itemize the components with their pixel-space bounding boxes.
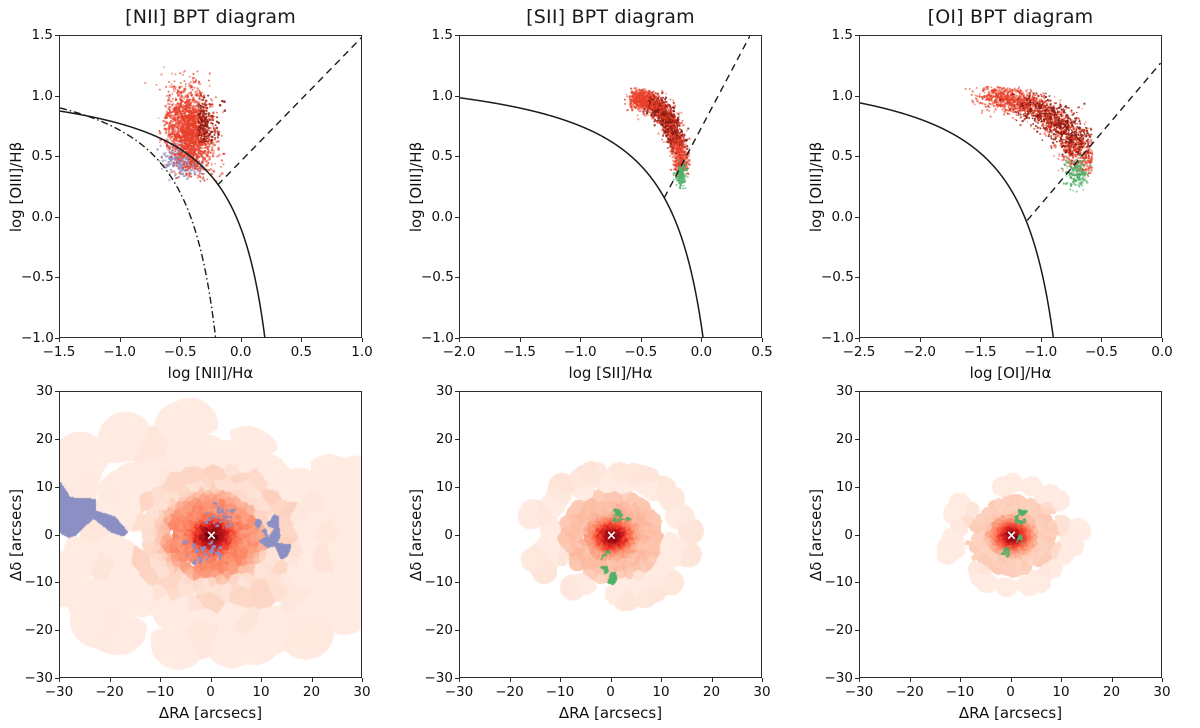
nii-bpt-xtick: [59, 338, 60, 342]
oi-bpt-plot-area: [859, 35, 1162, 338]
nii-map-xtick: [110, 678, 111, 682]
sii-map-yticklabel: 30: [421, 383, 453, 399]
sii-map-plot-area: ×: [459, 391, 762, 678]
sii-bpt-xticklabel: 0.0: [691, 344, 712, 360]
sii-map-xtick: [661, 678, 662, 682]
sii-bpt-xtick: [520, 338, 521, 342]
nii-bpt-xticklabel: 0.0: [230, 344, 251, 360]
sii-bpt-ytick: [455, 156, 459, 157]
oi-bpt-ytick: [855, 338, 859, 339]
oi-map-ylabel: Δδ [arcsecs]: [807, 488, 825, 580]
nii-bpt-ytick: [55, 217, 59, 218]
oi-bpt-yticklabel: 0.0: [821, 209, 853, 225]
nii-map-xtick: [160, 678, 161, 682]
oi-bpt-xticklabel: −2.5: [843, 344, 876, 360]
oi-bpt-yticklabel: 1.0: [821, 88, 853, 104]
nii-bpt-xtick: [362, 338, 363, 342]
oi-bpt-xtick: [859, 338, 860, 342]
oi-map-xticklabel: 10: [1052, 684, 1069, 700]
sii-bpt-xtick: [580, 338, 581, 342]
nii-bpt-xtick: [301, 338, 302, 342]
nii-bpt-yticklabel: 0.5: [21, 148, 53, 164]
oi-bpt-xtick: [1162, 338, 1163, 342]
nii-map-ytick: [55, 487, 59, 488]
oi-bpt-xtick: [980, 338, 981, 342]
sii-bpt-xtick: [762, 338, 763, 342]
oi-bpt-ytick: [855, 96, 859, 97]
nii-map-xlabel: ΔRA [arcsecs]: [59, 704, 362, 722]
nii-map-yticklabel: −10: [21, 574, 53, 590]
sii-map-ytick: [455, 439, 459, 440]
nii-map-yticklabel: 20: [21, 431, 53, 447]
nii-bpt-ytick: [55, 96, 59, 97]
oi-map-xticklabel: −30: [845, 684, 874, 700]
sii-map-xticklabel: −20: [495, 684, 524, 700]
nii-map-xtick: [261, 678, 262, 682]
nii-bpt-yticklabel: 0.0: [21, 209, 53, 225]
oi-map-nucleus-marker: ×: [1006, 529, 1017, 542]
sii-map-xtick: [560, 678, 561, 682]
nii-bpt-xticklabel: 0.5: [291, 344, 312, 360]
sii-map-xtick: [510, 678, 511, 682]
nii-map-xticklabel: 30: [353, 684, 370, 700]
nii-bpt-yticklabel: −0.5: [21, 269, 53, 285]
sii-bpt-ytick: [455, 277, 459, 278]
sii-bpt-ytick: [455, 35, 459, 36]
sii-bpt-seyfert-liner-line: [664, 36, 749, 197]
bpt-figure: −1.5−1.0−0.50.00.51.0−1.0−0.50.00.51.01.…: [0, 0, 1200, 728]
oi-bpt-xticklabel: −1.5: [964, 344, 997, 360]
nii-map-xticklabel: 0: [206, 684, 215, 700]
nii-map-xticklabel: −30: [45, 684, 74, 700]
oi-map-xtick: [1112, 678, 1113, 682]
sii-map-ytick: [455, 630, 459, 631]
nii-bpt-title: [NII] BPT diagram: [59, 6, 362, 28]
oi-map-xtick: [1162, 678, 1163, 682]
oi-map-yticklabel: 20: [821, 431, 853, 447]
nii-map-plot-area: ×: [59, 391, 362, 678]
nii-bpt-ytick: [55, 156, 59, 157]
oi-map-xticklabel: 30: [1153, 684, 1170, 700]
oi-bpt-xticklabel: −1.0: [1024, 344, 1057, 360]
nii-map-ytick: [55, 391, 59, 392]
oi-map-ytick: [855, 487, 859, 488]
oi-bpt-yticklabel: −1.0: [821, 330, 853, 346]
oi-bpt-ylabel: log [OIII]/Hβ: [807, 141, 825, 231]
nii-map-xticklabel: −20: [95, 684, 124, 700]
sii-map-yticklabel: −30: [421, 670, 453, 686]
nii-map-yticklabel: −30: [21, 670, 53, 686]
sii-map-ytick: [455, 391, 459, 392]
nii-map-xticklabel: 10: [252, 684, 269, 700]
nii-map-ytick: [55, 439, 59, 440]
sii-map-ytick: [455, 678, 459, 679]
oi-map-xticklabel: −20: [895, 684, 924, 700]
sii-bpt-xlabel: log [SII]/Hα: [459, 364, 762, 382]
oi-map-xticklabel: 0: [1006, 684, 1015, 700]
oi-bpt-xticklabel: −0.5: [1085, 344, 1118, 360]
oi-map-ytick: [855, 582, 859, 583]
oi-map-xticklabel: 20: [1103, 684, 1120, 700]
sii-map-xtick: [712, 678, 713, 682]
sii-bpt-xtick: [641, 338, 642, 342]
sii-bpt-xtick: [459, 338, 460, 342]
sii-map-ylabel: Δδ [arcsecs]: [407, 488, 425, 580]
oi-map-xtick: [960, 678, 961, 682]
sii-map-xlabel: ΔRA [arcsecs]: [459, 704, 762, 722]
nii-map-xticklabel: −10: [146, 684, 175, 700]
sii-bpt-yticklabel: 1.0: [421, 88, 453, 104]
nii-bpt-ytick: [55, 338, 59, 339]
sii-map-yticklabel: 20: [421, 431, 453, 447]
oi-bpt-kewley-line: [860, 103, 1061, 338]
sii-map-ytick: [455, 487, 459, 488]
nii-map-xtick: [211, 678, 212, 682]
nii-map-xtick: [362, 678, 363, 682]
sii-bpt-ytick: [455, 96, 459, 97]
sii-map-xticklabel: 20: [703, 684, 720, 700]
nii-bpt-ytick: [55, 35, 59, 36]
oi-map-ytick: [855, 630, 859, 631]
sii-bpt-xtick: [701, 338, 702, 342]
nii-bpt-xticklabel: −1.5: [43, 344, 76, 360]
nii-bpt-xtick: [241, 338, 242, 342]
sii-bpt-yticklabel: −0.5: [421, 269, 453, 285]
nii-map-yticklabel: 10: [21, 479, 53, 495]
oi-map-ytick: [855, 535, 859, 536]
sii-map-yticklabel: −10: [421, 574, 453, 590]
oi-bpt-xtick: [1041, 338, 1042, 342]
nii-bpt-ylabel: log [OIII]/Hβ: [7, 141, 25, 231]
oi-bpt-xtick: [920, 338, 921, 342]
nii-map-nucleus-marker: ×: [206, 529, 217, 542]
sii-bpt-yticklabel: −1.0: [421, 330, 453, 346]
sii-bpt-ytick: [455, 217, 459, 218]
nii-map-yticklabel: −20: [21, 622, 53, 638]
oi-bpt-ytick: [855, 217, 859, 218]
oi-map-xtick: [859, 678, 860, 682]
oi-bpt-xticklabel: −2.0: [903, 344, 936, 360]
sii-map-yticklabel: 10: [421, 479, 453, 495]
sii-map-nucleus-marker: ×: [606, 529, 617, 542]
nii-map-xtick: [312, 678, 313, 682]
nii-bpt-yticklabel: 1.0: [21, 88, 53, 104]
nii-map-ytick: [55, 678, 59, 679]
sii-map-ytick: [455, 535, 459, 536]
sii-map-xticklabel: 10: [652, 684, 669, 700]
sii-map-xtick: [459, 678, 460, 682]
sii-bpt-title: [SII] BPT diagram: [459, 6, 762, 28]
nii-bpt-yticklabel: 1.5: [21, 27, 53, 43]
nii-bpt-ytick: [55, 277, 59, 278]
nii-bpt-yticklabel: −1.0: [21, 330, 53, 346]
sii-map-yticklabel: 0: [421, 527, 453, 543]
sii-bpt-xticklabel: −0.5: [624, 344, 657, 360]
oi-bpt-yticklabel: 1.5: [821, 27, 853, 43]
oi-bpt-xlabel: log [OI]/Hα: [859, 364, 1162, 382]
sii-bpt-xticklabel: −1.5: [503, 344, 536, 360]
oi-map-yticklabel: 0: [821, 527, 853, 543]
sii-map-ytick: [455, 582, 459, 583]
sii-map-xticklabel: 0: [606, 684, 615, 700]
sii-bpt-ylabel: log [OIII]/Hβ: [407, 141, 425, 231]
oi-map-xticklabel: −10: [946, 684, 975, 700]
nii-bpt-plot-area: [59, 35, 362, 338]
oi-map-yticklabel: −20: [821, 622, 853, 638]
oi-bpt-xtick: [1101, 338, 1102, 342]
oi-map-yticklabel: −30: [821, 670, 853, 686]
nii-map-ytick: [55, 535, 59, 536]
sii-bpt-xticklabel: 0.5: [751, 344, 772, 360]
oi-map-yticklabel: 30: [821, 383, 853, 399]
sii-map-xticklabel: −30: [445, 684, 474, 700]
nii-bpt-xticklabel: 1.0: [351, 344, 372, 360]
oi-bpt-title: [OI] BPT diagram: [859, 6, 1162, 28]
nii-bpt-xlabel: log [NII]/Hα: [59, 364, 362, 382]
sii-bpt-yticklabel: 1.5: [421, 27, 453, 43]
oi-bpt-ytick: [855, 156, 859, 157]
oi-map-plot-area: ×: [859, 391, 1162, 678]
oi-bpt-yticklabel: −0.5: [821, 269, 853, 285]
sii-bpt-xticklabel: −2.0: [443, 344, 476, 360]
oi-map-ytick: [855, 678, 859, 679]
sii-bpt-xticklabel: −1.0: [564, 344, 597, 360]
nii-map-yticklabel: 0: [21, 527, 53, 543]
sii-map-xticklabel: 30: [753, 684, 770, 700]
oi-map-xtick: [1061, 678, 1062, 682]
oi-bpt-xticklabel: 0.0: [1151, 344, 1172, 360]
nii-bpt-xticklabel: −0.5: [164, 344, 197, 360]
nii-bpt-xtick: [180, 338, 181, 342]
nii-bpt-seyfert-liner-line: [218, 36, 362, 185]
sii-map-xticklabel: −10: [546, 684, 575, 700]
nii-map-ylabel: Δδ [arcsecs]: [7, 488, 25, 580]
nii-map-ytick: [55, 630, 59, 631]
oi-map-yticklabel: −10: [821, 574, 853, 590]
nii-map-yticklabel: 30: [21, 383, 53, 399]
sii-bpt-plot-area: [459, 35, 762, 338]
nii-bpt-xticklabel: −1.0: [103, 344, 136, 360]
sii-bpt-yticklabel: 0.0: [421, 209, 453, 225]
sii-map-yticklabel: −20: [421, 622, 453, 638]
oi-bpt-ytick: [855, 35, 859, 36]
oi-map-yticklabel: 10: [821, 479, 853, 495]
nii-map-xticklabel: 20: [303, 684, 320, 700]
nii-map-ytick: [55, 582, 59, 583]
oi-map-ytick: [855, 391, 859, 392]
sii-bpt-ytick: [455, 338, 459, 339]
sii-bpt-seyfert-points: [624, 87, 691, 177]
oi-bpt-seyfert-liner-line: [1027, 63, 1160, 220]
sii-bpt-yticklabel: 0.5: [421, 148, 453, 164]
oi-bpt-ytick: [855, 277, 859, 278]
sii-map-xtick: [611, 678, 612, 682]
nii-bpt-xtick: [120, 338, 121, 342]
oi-map-xtick: [1011, 678, 1012, 682]
oi-bpt-yticklabel: 0.5: [821, 148, 853, 164]
oi-map-xlabel: ΔRA [arcsecs]: [859, 704, 1162, 722]
nii-bpt-seyfert-points: [144, 66, 226, 182]
nii-map-xtick: [59, 678, 60, 682]
oi-map-ytick: [855, 439, 859, 440]
sii-map-xtick: [762, 678, 763, 682]
oi-map-xtick: [910, 678, 911, 682]
